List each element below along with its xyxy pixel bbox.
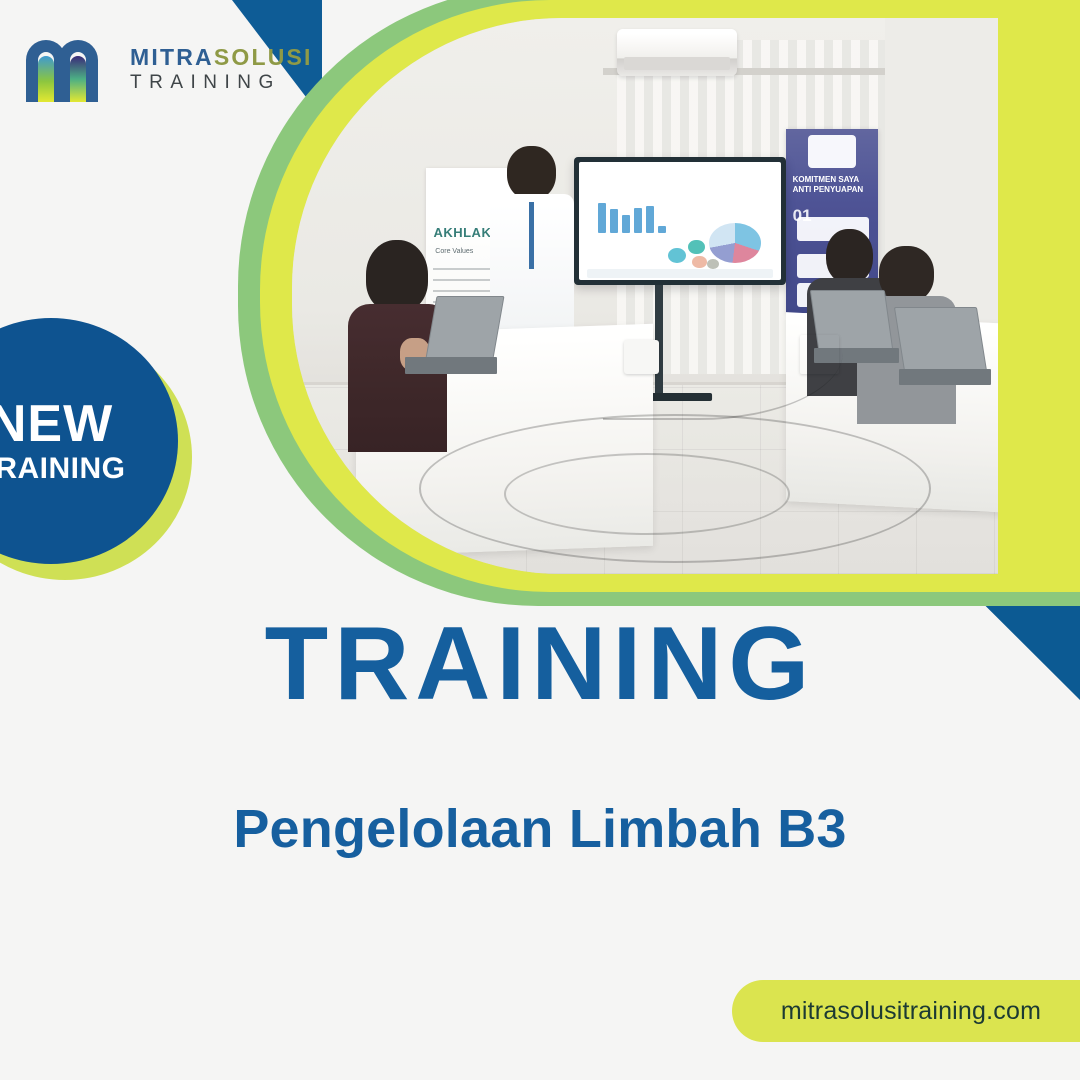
poster-antisuap-title: KOMITMEN SAYA ANTI PENYUAPAN (793, 175, 873, 195)
website-url: mitrasolusitraining.com (781, 997, 1041, 1026)
new-training-badge: NEW TRAINING (0, 318, 214, 580)
air-conditioner (617, 29, 737, 76)
training-photo: AKHLAK Core Values KOMITMEN SAYA ANTI PE… (292, 18, 998, 574)
website-pill[interactable]: mitrasolusitraining.com (732, 980, 1080, 1042)
logo-name-training: TRAINING (130, 73, 313, 92)
ac-vent (624, 57, 730, 69)
training-topic: Pengelolaan Limbah B3 (0, 798, 1080, 860)
logo-wordmark: MITRASOLUSI TRAINING (130, 46, 313, 92)
laptop (899, 307, 991, 385)
screen-bubble (707, 259, 719, 270)
logo-name-line: MITRASOLUSI (130, 46, 313, 69)
screen-taskbar (587, 269, 773, 277)
presentation-screen (574, 157, 786, 285)
badge-label-new: NEW (0, 398, 113, 450)
poster-akhlak-title: AKHLAK (433, 225, 491, 240)
cable-coil (504, 453, 790, 535)
screen-bubble (668, 248, 686, 263)
promo-poster: AKHLAK Core Values KOMITMEN SAYA ANTI PE… (0, 0, 1080, 1080)
screen-display (579, 162, 781, 280)
presenter-lanyard (529, 202, 534, 268)
badge-label-training: TRAINING (0, 452, 126, 485)
screen-pie-chart (709, 223, 761, 263)
laptop (405, 296, 497, 374)
photo-frame: AKHLAK Core Values KOMITMEN SAYA ANTI PE… (238, 0, 1080, 606)
page-title: TRAINING (0, 612, 1080, 716)
poster-antisuap-illustration (808, 135, 856, 168)
logo-name-solusi: SOLUSI (214, 44, 313, 70)
logo-name-mitra: MITRA (130, 44, 214, 70)
presenter-head (507, 146, 556, 200)
screen-bubble (688, 240, 704, 254)
screen-bubble (692, 256, 706, 268)
brand-logo: MITRASOLUSI TRAINING (24, 34, 313, 104)
photo-scene: AKHLAK Core Values KOMITMEN SAYA ANTI PE… (292, 18, 998, 574)
screen-bar-chart (598, 193, 667, 233)
logo-m-icon (24, 34, 116, 104)
